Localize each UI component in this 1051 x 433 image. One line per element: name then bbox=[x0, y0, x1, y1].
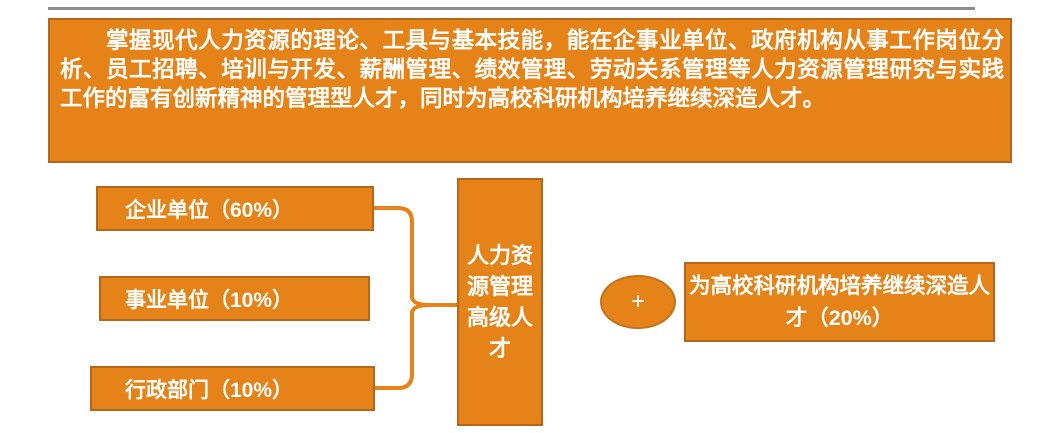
node-academic-further-study-label: 为高校科研机构培养继续深造人才（20%） bbox=[686, 270, 993, 334]
slide-canvas: 掌握现代人力资源的理论、工具与基本技能，能在企事业单位、政府机构从事工作岗位分析… bbox=[0, 0, 1051, 433]
plus-operator-icon: + bbox=[600, 275, 676, 329]
node-government-department-label: 行政部门（10%） bbox=[125, 374, 293, 404]
description-text: 掌握现代人力资源的理论、工具与基本技能，能在企事业单位、政府机构从事工作岗位分析… bbox=[60, 26, 1004, 113]
node-hr-senior-talent-label: 人力资源管理高级人才 bbox=[465, 240, 535, 364]
node-government-department[interactable]: 行政部门（10%） bbox=[90, 366, 375, 411]
node-public-institution[interactable]: 事业单位（10%） bbox=[99, 276, 370, 321]
node-academic-further-study[interactable]: 为高校科研机构培养继续深造人才（20%） bbox=[684, 262, 995, 342]
description-panel: 掌握现代人力资源的理论、工具与基本技能，能在企事业单位、政府机构从事工作岗位分析… bbox=[48, 18, 1012, 163]
node-hr-senior-talent[interactable]: 人力资源管理高级人才 bbox=[457, 178, 543, 426]
plus-symbol: + bbox=[631, 290, 645, 314]
top-divider-rule bbox=[48, 7, 975, 10]
node-public-institution-label: 事业单位（10%） bbox=[125, 284, 293, 314]
node-enterprise-unit[interactable]: 企业单位（60%） bbox=[96, 186, 374, 231]
node-enterprise-unit-label: 企业单位（60%） bbox=[125, 194, 293, 224]
